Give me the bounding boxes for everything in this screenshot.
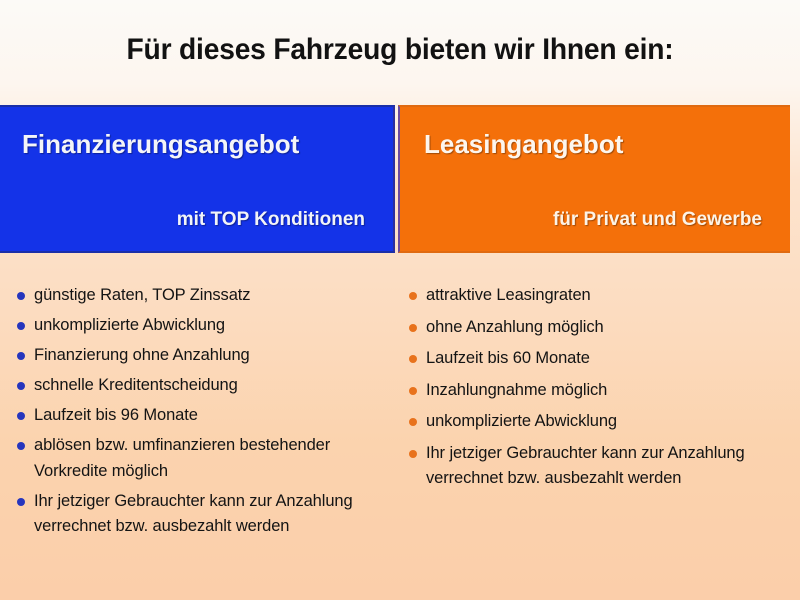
financing-heading: Finanzierungsangebot [22,129,299,160]
list-item-label: ablösen bzw. umfinanzieren bestehender V… [34,436,330,480]
list-item: schnelle Kreditentscheidung [14,373,396,399]
bullet-dot-icon [409,387,417,395]
leasing-heading: Leasingangebot [424,129,623,160]
list-item: unkomplizierte Abwicklung [406,409,792,435]
bullet-dot-icon [17,292,25,300]
list-item-label: günstige Raten, TOP Zinssatz [34,286,250,304]
bullet-dot-icon [17,352,25,360]
list-item: Inzahlungnahme möglich [406,378,792,404]
list-item: attraktive Leasingraten [406,283,792,309]
list-item-label: Finanzierung ohne Anzahlung [34,346,250,364]
list-item: ablösen bzw. umfinanzieren bestehender V… [14,433,396,484]
list-item: Ihr jetziger Gebrauchter kann zur Anzahl… [406,441,792,492]
list-item-label: Laufzeit bis 60 Monate [426,349,590,367]
list-item-label: Inzahlungnahme möglich [426,381,607,399]
financing-benefits-column: günstige Raten, TOP Zinssatzunkomplizier… [14,283,396,544]
financing-benefit-list: günstige Raten, TOP Zinssatzunkomplizier… [14,283,396,540]
list-item: Finanzierung ohne Anzahlung [14,343,396,369]
financing-offer-band: Finanzierungsangebot mit TOP Konditionen [0,105,395,253]
list-item-label: schnelle Kreditentscheidung [34,376,238,394]
offer-band-row: Finanzierungsangebot mit TOP Konditionen… [0,105,800,253]
list-item: Laufzeit bis 96 Monate [14,403,396,429]
leasing-subheading: für Privat und Gewerbe [553,209,762,231]
list-item: unkomplizierte Abwicklung [14,313,396,339]
bullet-dot-icon [409,292,417,300]
list-item: ohne Anzahlung möglich [406,315,792,341]
list-item-label: unkomplizierte Abwicklung [34,316,225,334]
list-item-label: Ihr jetziger Gebrauchter kann zur Anzahl… [426,444,745,488]
list-item: Ihr jetziger Gebrauchter kann zur Anzahl… [14,489,396,540]
bullet-dot-icon [17,382,25,390]
bullet-dot-icon [17,412,25,420]
bullet-dot-icon [409,324,417,332]
leasing-benefits-column: attraktive Leasingratenohne Anzahlung mö… [406,283,792,498]
list-item: Laufzeit bis 60 Monate [406,346,792,372]
page-title: Für dieses Fahrzeug bieten wir Ihnen ein… [24,33,776,67]
bullet-dot-icon [17,442,25,450]
bullet-dot-icon [409,355,417,363]
bullet-dot-icon [409,450,417,458]
bullet-dot-icon [17,498,25,506]
list-item-label: attraktive Leasingraten [426,286,591,304]
list-item-label: Laufzeit bis 96 Monate [34,406,198,424]
bullet-dot-icon [17,322,25,330]
list-item-label: ohne Anzahlung möglich [426,318,604,336]
list-item-label: Ihr jetziger Gebrauchter kann zur Anzahl… [34,492,353,536]
bullet-dot-icon [409,418,417,426]
leasing-offer-band: Leasingangebot für Privat und Gewerbe [398,105,790,253]
offer-detail-columns: günstige Raten, TOP Zinssatzunkomplizier… [0,283,800,533]
list-item: günstige Raten, TOP Zinssatz [14,283,396,309]
offer-poster: Für dieses Fahrzeug bieten wir Ihnen ein… [0,0,800,600]
leasing-benefit-list: attraktive Leasingratenohne Anzahlung mö… [406,283,792,492]
list-item-label: unkomplizierte Abwicklung [426,412,617,430]
financing-subheading: mit TOP Konditionen [177,209,365,231]
